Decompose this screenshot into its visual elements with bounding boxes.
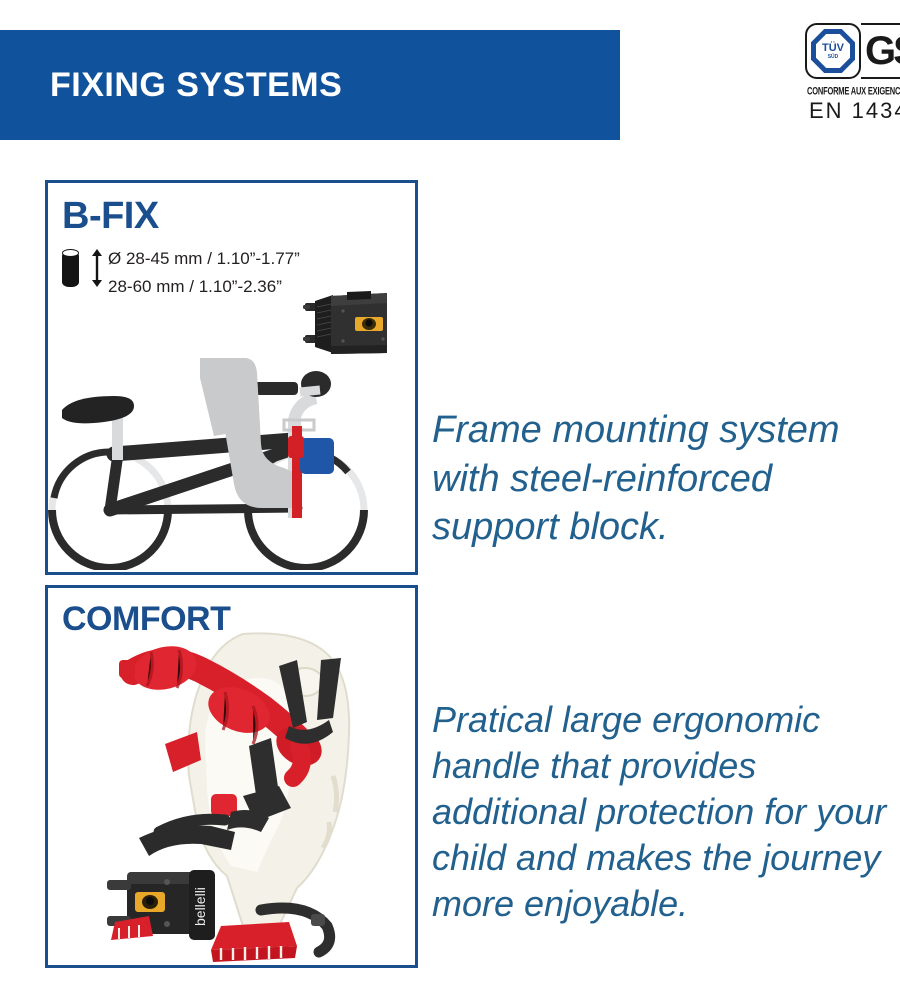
description-bfix: Frame mounting system with steel-reinfor… [432,406,892,552]
bicycle-illustration [48,358,415,570]
bracket-key-lock-icon [146,897,154,905]
conforme-text: CONFORME AUX EXIGENCES DE SÉ [807,84,900,98]
key-lock-icon [365,319,372,326]
tuv-sud-icon: TÜV SÜD [805,23,861,79]
gs-mark-icon: GS Geprüfte Sicherheit [861,23,900,79]
header-bar: FIXING SYSTEMS [0,30,620,140]
comfort-seat-product-image: bellelli [93,626,383,966]
page-title: FIXING SYSTEMS [0,66,342,105]
gs-label: GS [865,34,900,68]
mount-blue-block [300,438,334,474]
cert-badges: TÜV SÜD GS Geprüfte Sicherheit [805,20,900,82]
standard-number: EN 1434 [809,98,900,124]
brand-mark-text: bellelli [192,887,208,926]
spec-icon-group [58,247,92,295]
bracket-product-image [303,291,391,361]
tuv-sub-label: SÜD [828,55,839,60]
panel-comfort: COMFORT [45,585,418,968]
saddle-icon [62,396,134,423]
certification-logo: TÜV SÜD GS Geprüfte Sicherheit CONFORME … [805,20,900,125]
spec-diameter: Ø 28-45 mm / 1.10”-1.77” [108,245,368,273]
height-arrow-icon [90,249,104,287]
cylinder-top-ellipse-icon [62,249,79,257]
poster-page: FIXING SYSTEMS TÜV SÜD GS Geprüfte Siche… [0,0,900,1000]
tuv-label: TÜV [822,43,844,54]
description-comfort: Pratical large ergonomic handle that pro… [432,697,897,927]
panel-bfix: B-FIX Ø 28-45 mm / 1.10”-1.77” 28-60 mm … [45,180,418,575]
panel-title-bfix: B-FIX [62,195,159,238]
